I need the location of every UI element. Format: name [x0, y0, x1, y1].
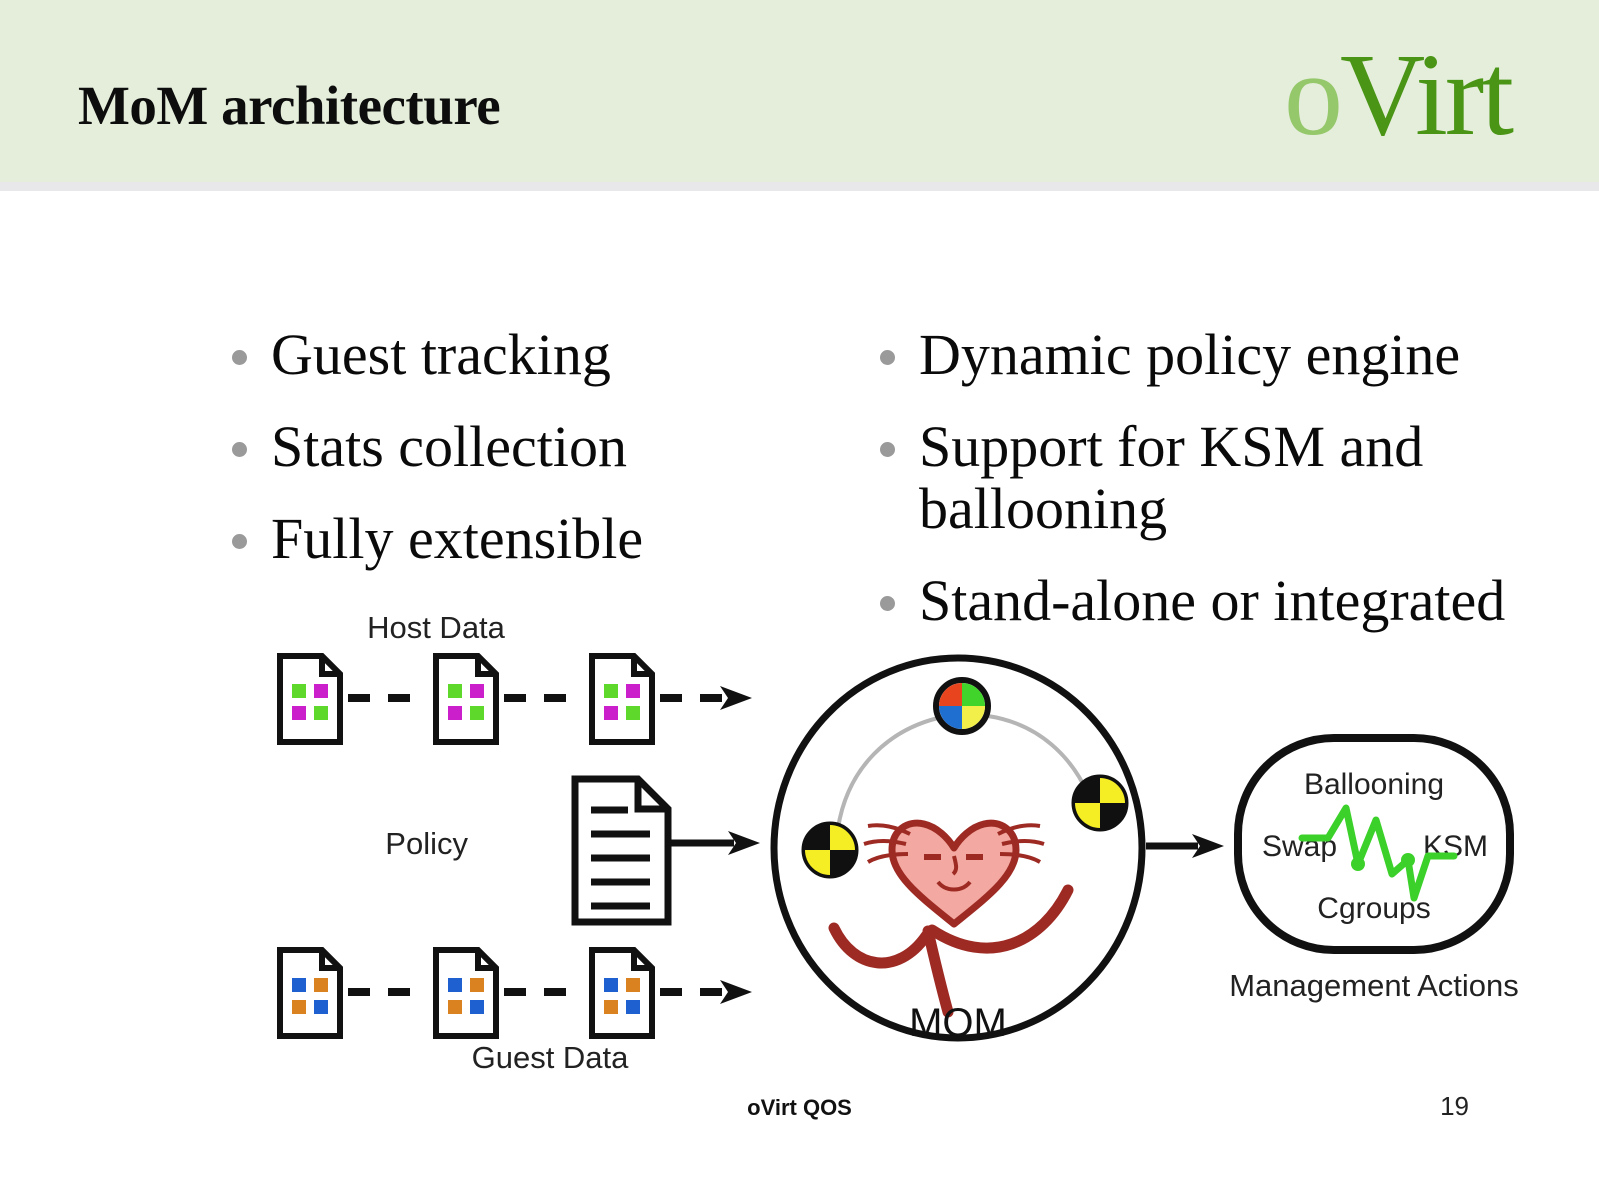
mom-label: MOM: [909, 1001, 1007, 1045]
guest-data-group: Guest Data: [280, 950, 752, 1075]
footer-title: oVirt QOS: [0, 1095, 1599, 1121]
page-number: 19: [1440, 1091, 1469, 1122]
list-item: Fully extensible: [232, 508, 852, 570]
list-item: Stats collection: [232, 416, 852, 478]
policy-group: Policy: [385, 779, 760, 922]
ovirt-logo-o: o: [1284, 29, 1340, 160]
page-title: MoM architecture: [78, 74, 500, 137]
host-data-document: [436, 656, 496, 742]
bullet-dot-icon: [880, 442, 895, 457]
host-data-document: [592, 656, 652, 742]
bullet-dot-icon: [232, 442, 247, 457]
bullet-dot-icon: [880, 350, 895, 365]
mom-node: MOM: [774, 658, 1142, 1045]
juggling-ball-checker-icon: [1074, 777, 1126, 829]
bullet-list-left: Guest tracking Stats collection Fully ex…: [232, 324, 852, 600]
ovirt-logo: oVirt: [1284, 36, 1511, 154]
policy-document: [575, 779, 668, 922]
guest-data-document: [280, 950, 340, 1036]
policy-label: Policy: [385, 826, 468, 861]
ballooning-label: Ballooning: [1304, 768, 1444, 801]
bullet-dot-icon: [232, 350, 247, 365]
host-data-group: Host Data: [280, 610, 752, 742]
guest-data-document: [592, 950, 652, 1036]
juggling-ball-checker-icon: [804, 824, 856, 876]
ovirt-logo-virt: Virt: [1340, 29, 1511, 160]
header-divider: [0, 182, 1599, 191]
bullet-label: Guest tracking: [271, 324, 611, 386]
bullet-label: Support for KSM and ballooning: [919, 416, 1520, 540]
bullet-label: Stats collection: [271, 416, 627, 478]
activity-chart-point: [1401, 853, 1415, 867]
list-item: Guest tracking: [232, 324, 852, 386]
host-data-arrow: [720, 686, 752, 710]
bullet-label: Fully extensible: [271, 508, 643, 570]
management-actions-node: Ballooning Swap KSM Cgroups: [1238, 738, 1510, 950]
host-data-document: [280, 656, 340, 742]
bullet-label: Dynamic policy engine: [919, 324, 1460, 386]
mom-architecture-diagram: Host Data: [250, 598, 1540, 1088]
guest-data-label: Guest Data: [472, 1040, 630, 1075]
guest-data-document: [436, 950, 496, 1036]
juggling-ball-quad-icon: [936, 680, 988, 732]
bullet-dot-icon: [232, 534, 247, 549]
host-data-label: Host Data: [367, 610, 506, 645]
list-item: Support for KSM and ballooning: [880, 416, 1520, 540]
management-actions-label: Management Actions: [1229, 968, 1519, 1003]
activity-chart-point: [1351, 857, 1365, 871]
list-item: Dynamic policy engine: [880, 324, 1520, 386]
guest-data-arrow: [720, 980, 752, 1004]
